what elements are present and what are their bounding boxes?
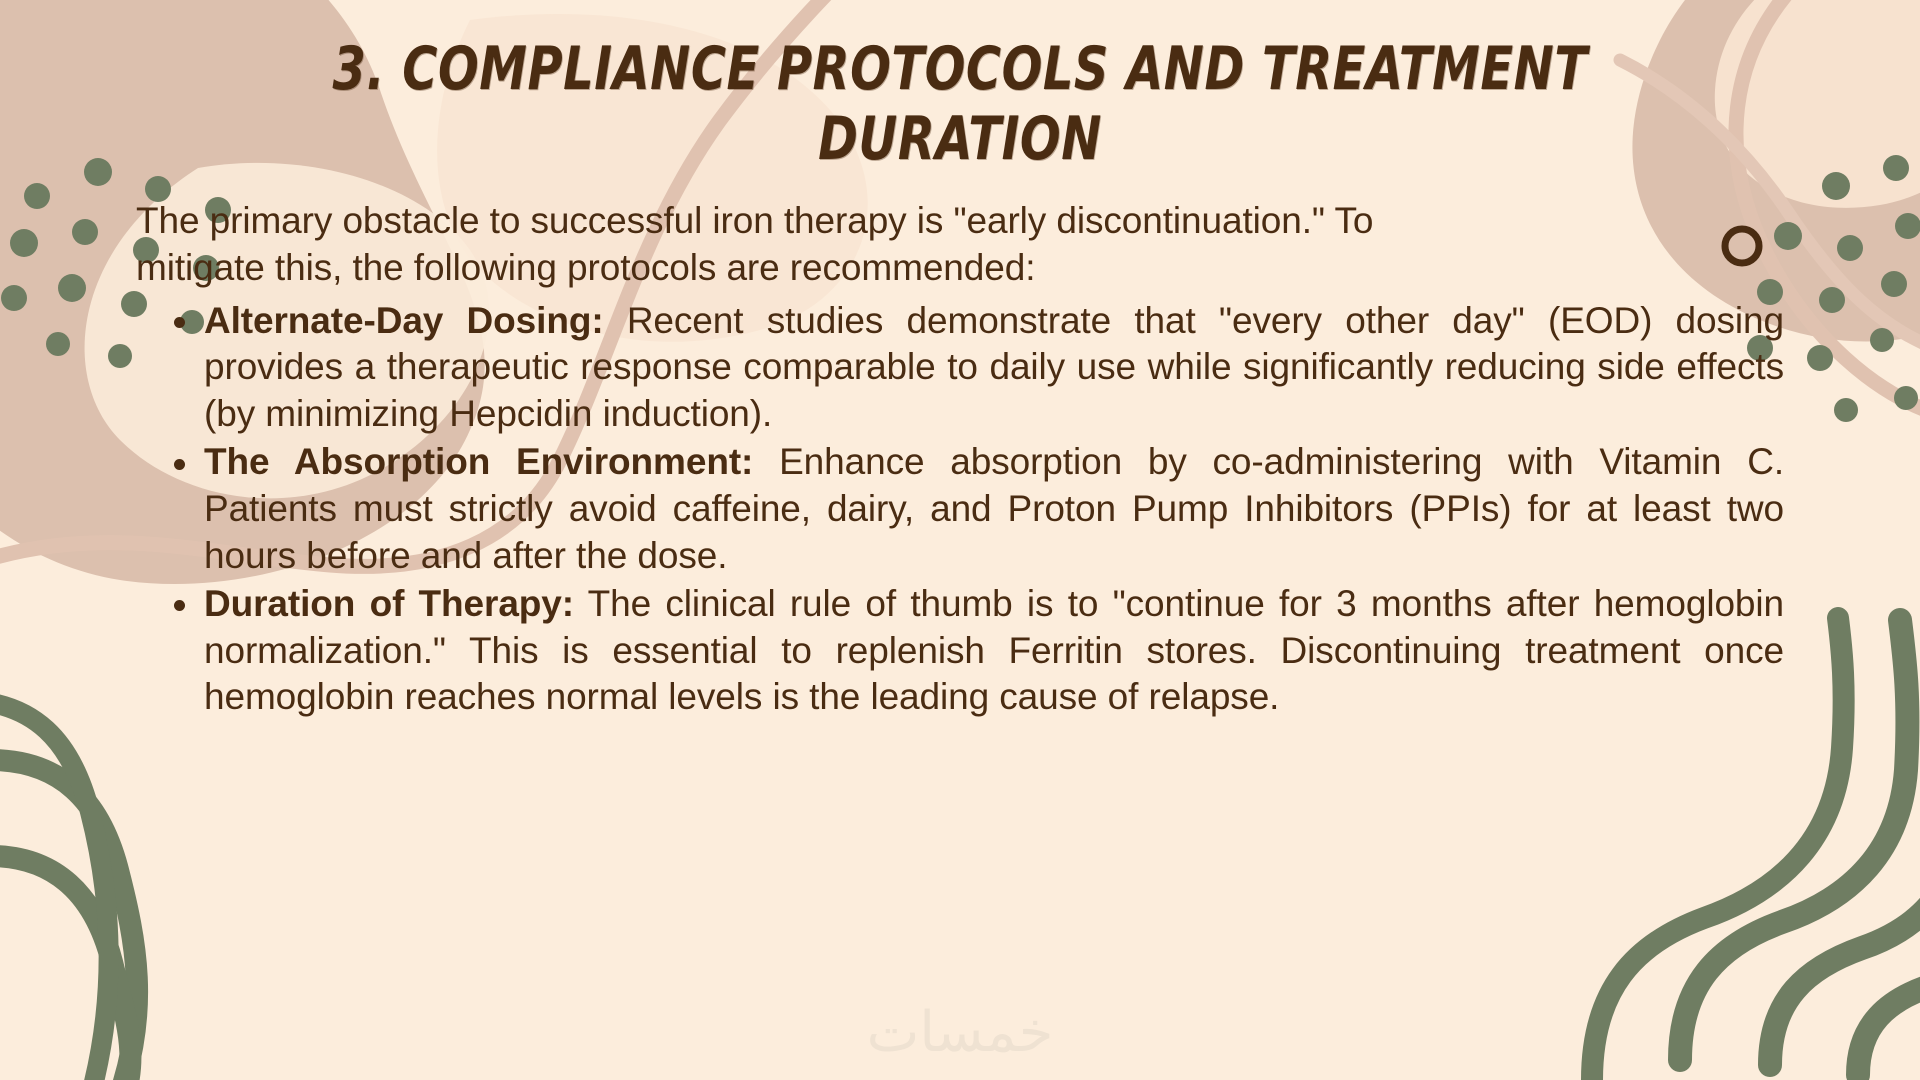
slide-content: 3. Compliance Protocols and Treatment Du… <box>0 0 1920 1080</box>
intro-line-1: The primary obstacle to successful iron … <box>136 200 1373 241</box>
bullet-dot-icon <box>174 317 185 328</box>
slide-canvas: 3. Compliance Protocols and Treatment Du… <box>0 0 1920 1080</box>
page-title: 3. Compliance Protocols and Treatment Du… <box>136 34 1784 174</box>
bullet-dot-icon <box>174 459 185 470</box>
intro-line-2: mitigate this, the following protocols a… <box>136 245 1784 292</box>
page-title-line-2: Duration <box>818 104 1102 174</box>
intro-paragraph: The primary obstacle to successful iron … <box>136 198 1784 291</box>
protocol-list: Alternate-Day Dosing: Recent studies dem… <box>136 298 1784 721</box>
list-item-label: Alternate-Day Dosing: <box>204 300 604 341</box>
list-item: Alternate-Day Dosing: Recent studies dem… <box>174 298 1784 438</box>
page-title-line-1: 3. Compliance Protocols and Treatment <box>332 34 1587 104</box>
list-item: The Absorption Environment: Enhance abso… <box>174 439 1784 579</box>
list-item-label: The Absorption Environment: <box>204 441 753 482</box>
list-item-label: Duration of Therapy: <box>204 583 574 624</box>
bullet-dot-icon <box>174 600 185 611</box>
list-item: Duration of Therapy: The clinical rule o… <box>174 581 1784 721</box>
